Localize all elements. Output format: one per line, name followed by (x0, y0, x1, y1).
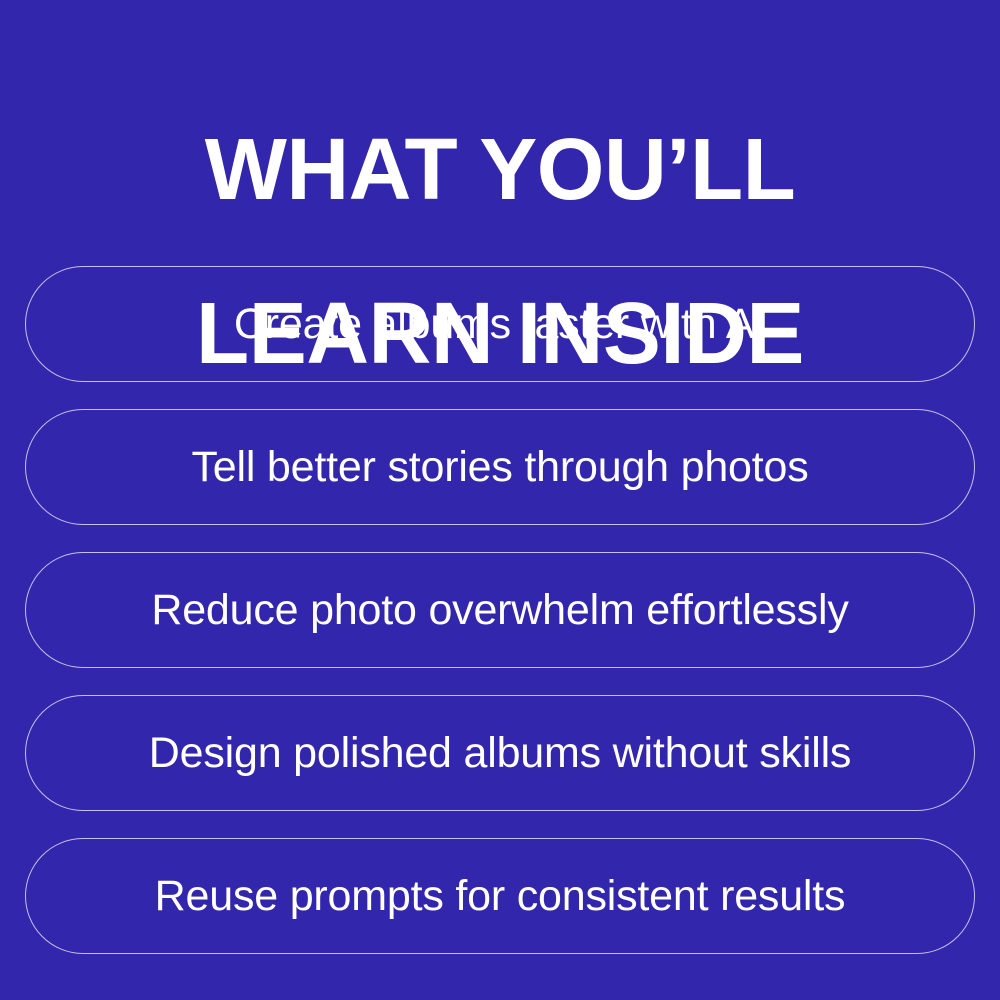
list-item-label: Design polished albums without skills (149, 732, 851, 775)
list-item: Tell better stories through photos (25, 409, 975, 525)
list-item: Reduce photo overwhelm effortlessly (25, 552, 975, 668)
slide-canvas: WHAT YOU’LL LEARN INSIDE Create albums f… (0, 0, 1000, 1000)
list-item: Design polished albums without skills (25, 695, 975, 811)
list-item: Create albums faster with AI (25, 266, 975, 382)
learning-points-list: Create albums faster with AI Tell better… (25, 266, 975, 954)
list-item-label: Create albums faster with AI (234, 303, 766, 346)
list-item-label: Reuse prompts for consistent results (155, 875, 846, 918)
list-item-label: Reduce photo overwhelm effortlessly (151, 589, 848, 632)
list-item-label: Tell better stories through photos (191, 446, 808, 489)
list-item: Reuse prompts for consistent results (25, 838, 975, 954)
page-title-line-1: WHAT YOU’LL (0, 129, 1000, 211)
